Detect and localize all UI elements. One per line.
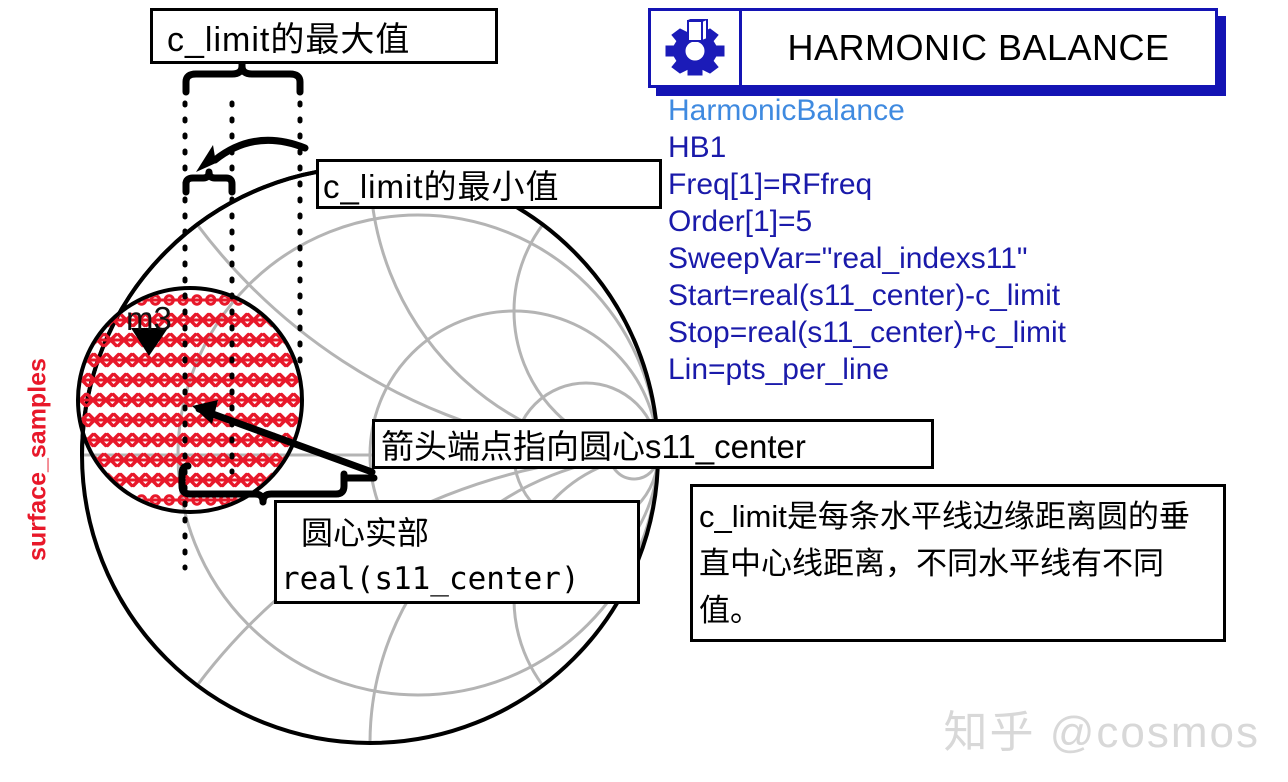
callout-real-part-line1: 圆心实部 — [277, 503, 637, 555]
hb-param: Order[1]=5 — [668, 203, 1066, 240]
callout-arrow-text: 箭头端点指向圆心s11_center — [381, 420, 806, 468]
hb-param: Lin=pts_per_line — [668, 351, 1066, 388]
callout-real-part-line2: real(s11_center) — [277, 555, 637, 603]
callout-c-limit-min: c_limit的最小值 — [316, 159, 662, 209]
callout-c-limit-note-text: c_limit是每条水平线边缘距离圆的垂直中心线距离，不同水平线有不同值。 — [699, 499, 1190, 628]
callout-arrow-points-to-center: 箭头端点指向圆心s11_center — [372, 419, 934, 469]
callout-real-part: 圆心实部 real(s11_center) — [274, 500, 640, 604]
hb-icon-cell — [651, 11, 742, 85]
callout-c-limit-min-text: c_limit的最小值 — [323, 160, 560, 208]
curved-arrow-head — [196, 145, 216, 172]
hb-param: Stop=real(s11_center)+c_limit — [668, 314, 1066, 351]
curved-arrow-to-min-brace — [215, 140, 305, 160]
callout-c-limit-note: c_limit是每条水平线边缘距离圆的垂直中心线距离，不同水平线有不同值。 — [690, 484, 1226, 642]
hb-title: HARMONIC BALANCE — [742, 11, 1215, 85]
gear-icon — [664, 19, 726, 77]
sample-points — [75, 296, 306, 504]
brace-min — [186, 172, 232, 192]
hb-parameter-list: HarmonicBalance HB1 Freq[1]=RFfreq Order… — [668, 92, 1066, 388]
hb-class-name: HarmonicBalance — [668, 92, 1066, 129]
marker-label-m3: m3 — [126, 300, 172, 338]
hb-param: SweepVar="real_indexs11" — [668, 240, 1066, 277]
callout-c-limit-max-text: c_limit的最大值 — [167, 12, 410, 61]
hb-param: Freq[1]=RFfreq — [668, 166, 1066, 203]
harmonic-balance-component[interactable]: HARMONIC BALANCE — [648, 8, 1218, 88]
hb-instance-name: HB1 — [668, 129, 1066, 166]
brace-max — [186, 66, 300, 92]
hb-header[interactable]: HARMONIC BALANCE — [648, 8, 1218, 88]
smith-chart — [0, 0, 1288, 782]
watermark: 知乎 @cosmos — [944, 696, 1260, 760]
slide-canvas: surface_samples m3 c_limit的最大值 c_limit的最… — [0, 0, 1288, 782]
callout-c-limit-max: c_limit的最大值 — [150, 8, 498, 64]
hb-param: Start=real(s11_center)-c_limit — [668, 277, 1066, 314]
y-axis-label: surface_samples — [24, 350, 53, 570]
